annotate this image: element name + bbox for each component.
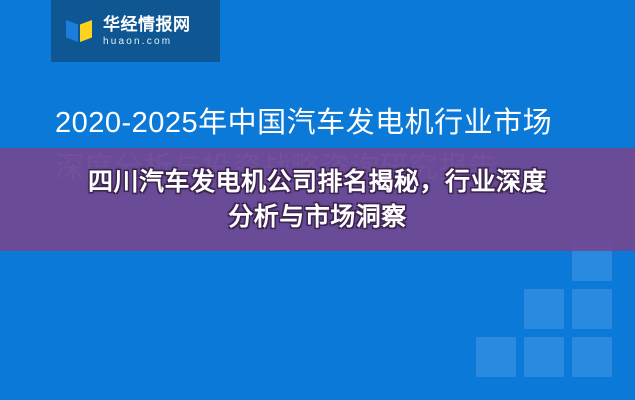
headline-line-2: 分析与市场洞察: [228, 203, 407, 231]
report-title: 2020-2025年中国汽车发电机行业市场: [55, 105, 552, 141]
deco-square: [572, 289, 612, 329]
deco-square: [524, 289, 564, 329]
deco-square: [476, 337, 516, 377]
brand-logo[interactable]: 华经情报网 huaon.com: [51, 0, 220, 62]
headline-text: 四川汽车发电机公司排名揭秘，行业深度 分析与市场洞察: [30, 165, 605, 234]
poster-canvas: 华经情报网 huaon.com 2020-2025年中国汽车发电机行业市场 深度…: [0, 0, 635, 400]
staircase-squares-decoration: [476, 241, 620, 385]
deco-square: [524, 337, 564, 377]
open-book-icon: [64, 16, 94, 46]
deco-square: [572, 337, 612, 377]
brand-name-cn: 华经情报网: [103, 16, 191, 33]
deco-square: [476, 289, 516, 329]
brand-name-en: huaon.com: [103, 37, 191, 47]
headline-band: 四川汽车发电机公司排名揭秘，行业深度 分析与市场洞察: [0, 148, 635, 251]
headline-line-1: 四川汽车发电机公司排名揭秘，行业深度: [88, 168, 547, 196]
